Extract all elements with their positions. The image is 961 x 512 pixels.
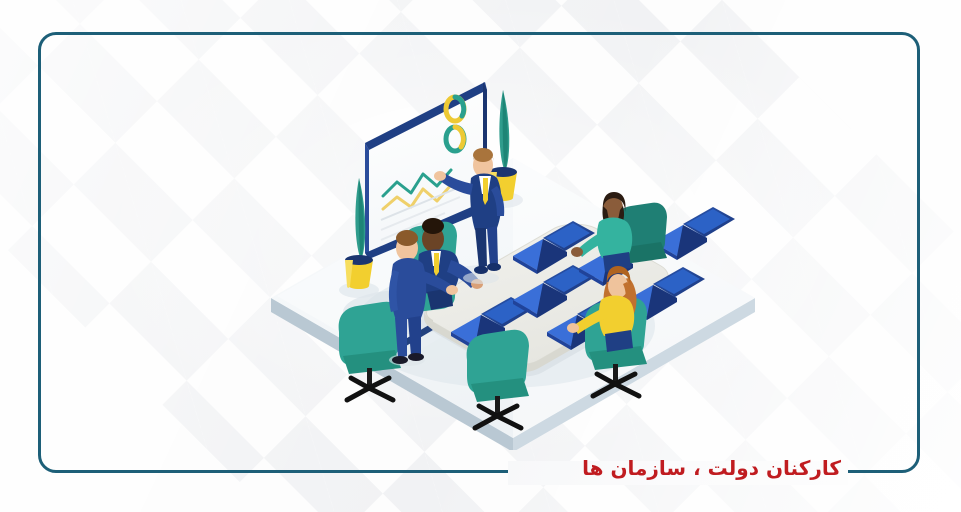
screenshot-root: کارکنان دولت ، سازمان ها — [0, 0, 961, 512]
caption-text: کارکنان دولت ، سازمان ها — [582, 456, 841, 480]
illustration-isometric-meeting — [255, 60, 775, 450]
office-chair — [339, 302, 401, 400]
